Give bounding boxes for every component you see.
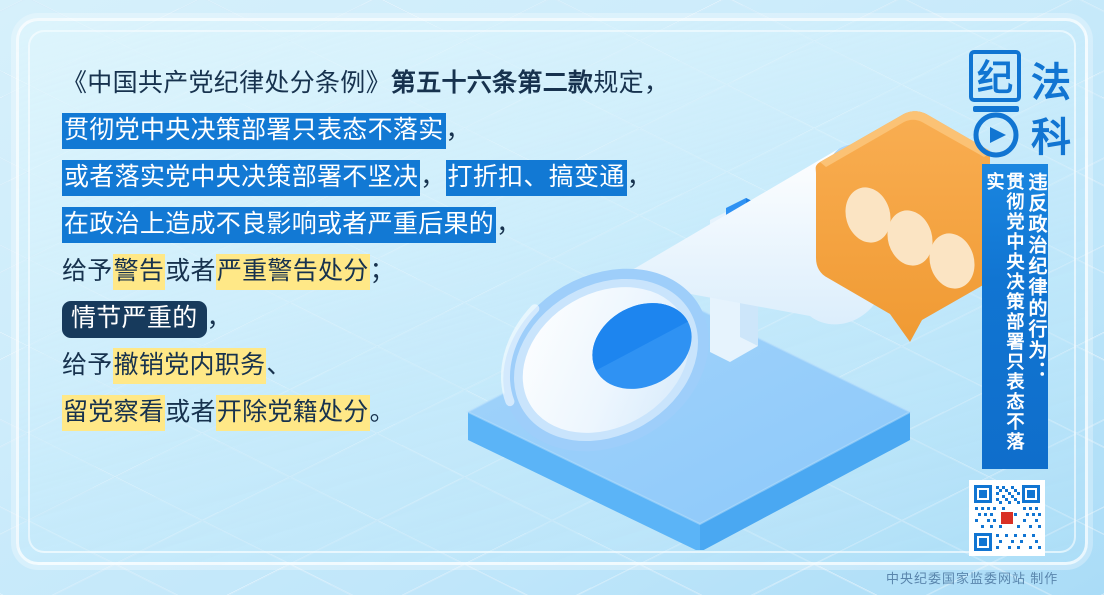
text-line-2: 贯彻党中央决策部署只表态不落实， bbox=[62, 107, 722, 154]
text-line-6: 情节严重的， bbox=[62, 295, 722, 342]
text-line-8: 留党察看或者开除党籍处分。 bbox=[62, 389, 722, 436]
text-line-5: 给予警告或者严重警告处分； bbox=[62, 248, 722, 295]
banner-column-behavior: 贯彻党中央决策部署只表态不落实 bbox=[985, 172, 1025, 469]
line3-punct-tail: ， bbox=[627, 164, 652, 191]
line7-punct: 、 bbox=[266, 352, 291, 379]
text-line-7: 给予撤销党内职务、 bbox=[62, 342, 722, 389]
qr-code-container[interactable] bbox=[969, 480, 1045, 556]
logo-char-ji: 纪 bbox=[977, 58, 1013, 98]
line1-part-c: 规定， bbox=[593, 70, 669, 97]
logo-char-bai-group: 百 bbox=[973, 106, 1019, 155]
line3-punct-mid: ， bbox=[420, 164, 445, 191]
highlight-yellow-penalty-3: 撤销党内职务 bbox=[113, 348, 267, 384]
red-seal-logo bbox=[1001, 512, 1013, 524]
jifa-baike-logo[interactable]: 纪 法 百 科 bbox=[967, 48, 1079, 160]
line6-punct: ， bbox=[207, 305, 232, 332]
play-triangle-icon[interactable] bbox=[990, 127, 1006, 143]
line4-punct: ， bbox=[496, 211, 521, 238]
highlight-yellow-penalty-2: 严重警告处分 bbox=[216, 254, 370, 290]
poster-canvas: 《中国共产党纪律处分条例》第五十六条第二款规定， 贯彻党中央决策部署只表态不落实… bbox=[0, 0, 1104, 595]
line1-part-a: 《中国共产党纪律处分条例》 bbox=[62, 70, 391, 97]
highlight-blue-clause-2: 或者落实党中央决策部署不坚决 bbox=[62, 160, 420, 196]
text-line-3: 或者落实党中央决策部署不坚决，打折扣、搞变通， bbox=[62, 154, 722, 201]
logo-char-fa: 法 bbox=[1031, 60, 1071, 105]
line5-punct: ； bbox=[370, 258, 395, 285]
text-line-4: 在政治上造成不良影响或者严重后果的， bbox=[62, 201, 722, 248]
text-line-1: 《中国共产党纪律处分条例》第五十六条第二款规定， bbox=[62, 60, 722, 107]
highlight-navy-badge: 情节严重的 bbox=[62, 301, 207, 338]
highlight-blue-clause-4: 在政治上造成不良影响或者严重后果的 bbox=[62, 207, 496, 243]
line1-article-number: 第五十六条第二款 bbox=[391, 70, 593, 97]
line8-part-b: 或者 bbox=[165, 399, 216, 426]
line8-punct: 。 bbox=[370, 399, 395, 426]
banner-column-category: 违反政治纪律的行为： bbox=[1026, 172, 1046, 382]
line2-punct: ， bbox=[446, 117, 471, 144]
logo-char-ke: 科 bbox=[1031, 115, 1071, 160]
line5-part-a: 给予 bbox=[62, 258, 113, 285]
regulation-text-block: 《中国共产党纪律处分条例》第五十六条第二款规定， 贯彻党中央决策部署只表态不落实… bbox=[62, 60, 722, 436]
highlight-yellow-penalty-4: 留党察看 bbox=[62, 395, 165, 431]
highlight-blue-clause-1: 贯彻党中央决策部署只表态不落实 bbox=[62, 113, 446, 149]
line7-part-a: 给予 bbox=[62, 352, 113, 379]
highlight-yellow-penalty-5: 开除党籍处分 bbox=[216, 395, 370, 431]
vertical-topic-banner: 违反政治纪律的行为： 贯彻党中央决策部署只表态不落实 bbox=[982, 164, 1048, 469]
credit-line: 中央纪委国家监委网站 制作 bbox=[886, 568, 1058, 587]
highlight-yellow-penalty-1: 警告 bbox=[113, 254, 166, 290]
line5-part-b: 或者 bbox=[165, 258, 216, 285]
highlight-blue-clause-3: 打折扣、搞变通 bbox=[446, 160, 627, 196]
qr-code-icon[interactable] bbox=[972, 483, 1042, 553]
